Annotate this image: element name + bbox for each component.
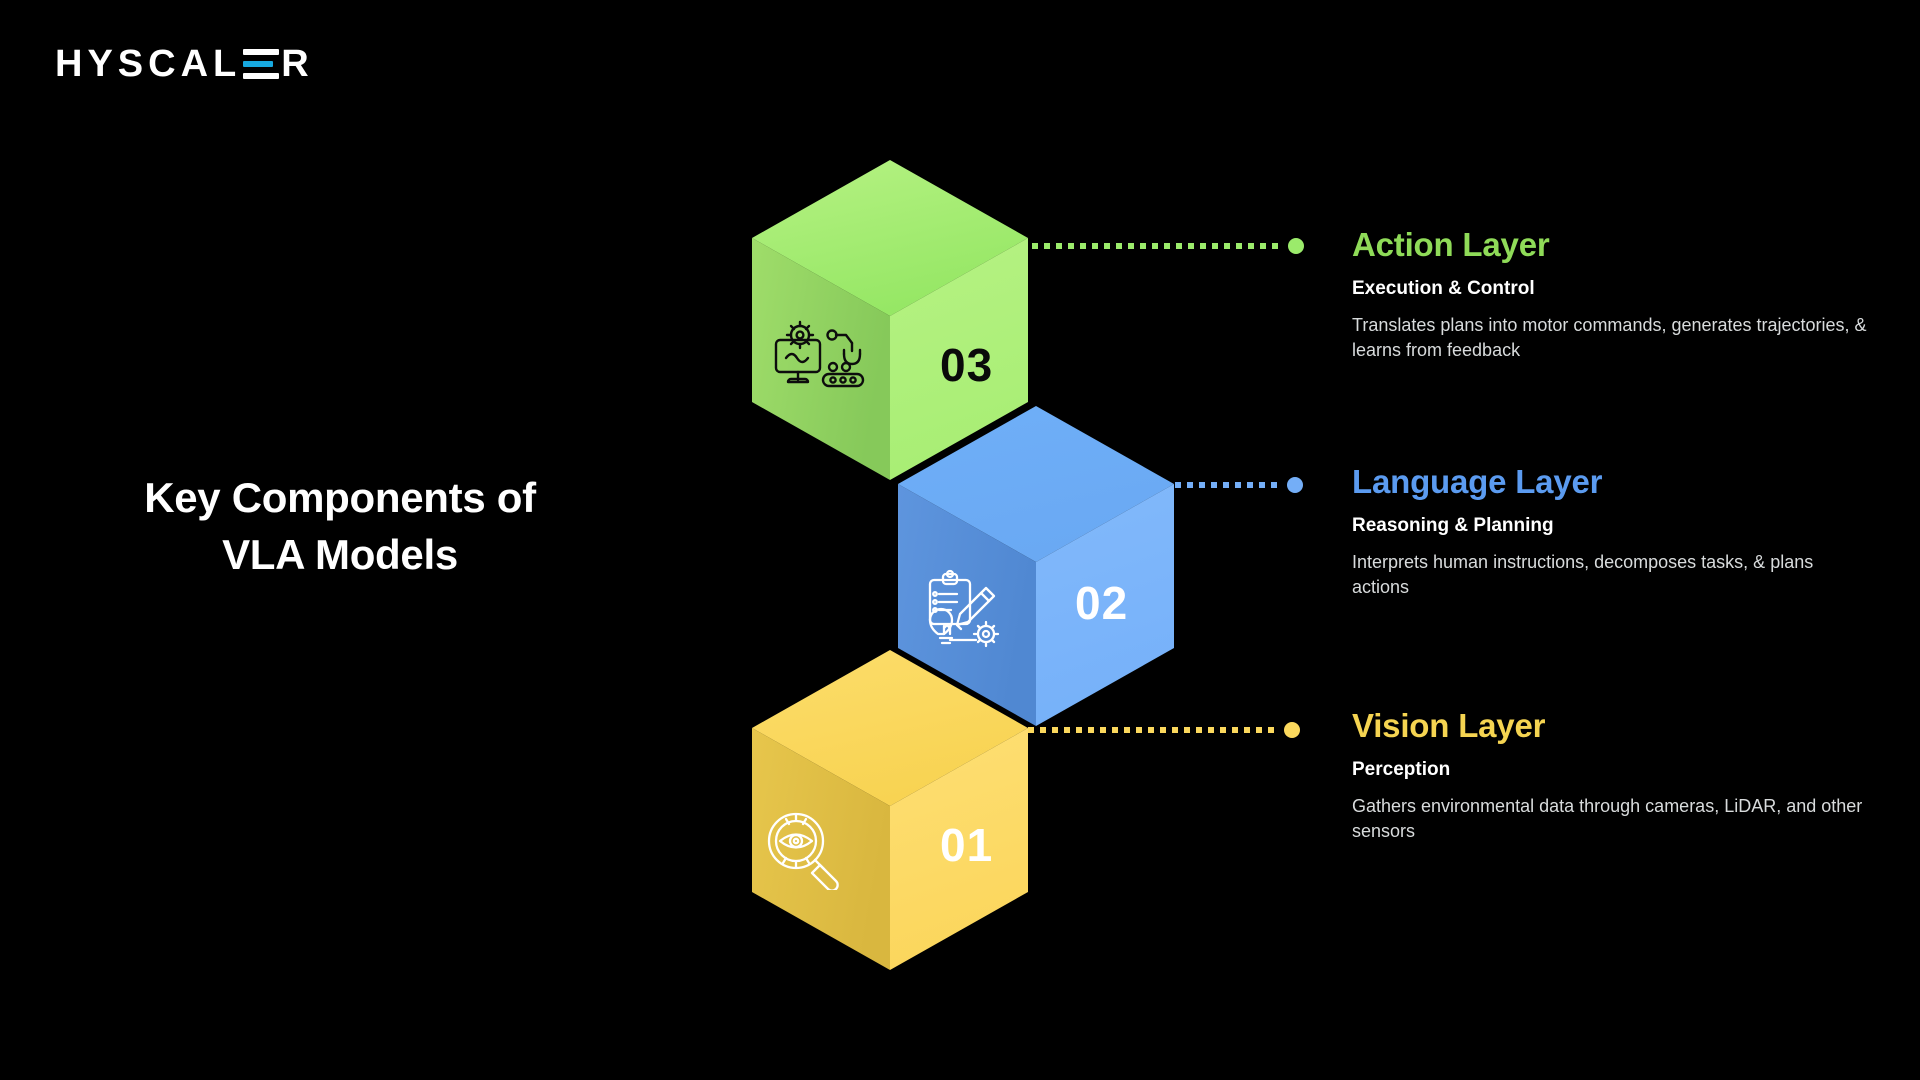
layer-subheading-action: Execution & Control [1352, 278, 1872, 301]
connector-endpoint-02 [1287, 477, 1303, 493]
layer-description-vision: Gathers environmental data through camer… [1352, 794, 1872, 845]
layer-info-action: Action Layer Execution & Control Transla… [1352, 226, 1872, 364]
page-title-line-1: Key Components of [60, 470, 620, 527]
brand-logo: HYSCAL R [55, 42, 314, 86]
cube-02-language [898, 406, 1174, 726]
page-title-line-2: VLA Models [60, 527, 620, 584]
layer-info-language: Language Layer Reasoning & Planning Inte… [1352, 463, 1872, 601]
logo-text-before: HYSCAL [55, 45, 241, 83]
slide-canvas: HYSCAL R Key Components of VLA Models [0, 0, 1920, 1080]
cube-number-02: 02 [1075, 576, 1128, 630]
connector-line-01 [1028, 727, 1302, 733]
layer-info-vision: Vision Layer Perception Gathers environm… [1352, 707, 1872, 845]
connector-endpoint-03 [1288, 238, 1304, 254]
automation-robot-arm-icon [770, 318, 866, 399]
page-title: Key Components of VLA Models [60, 470, 620, 583]
connector-endpoint-01 [1284, 722, 1300, 738]
layer-description-language: Interprets human instructions, decompose… [1352, 550, 1872, 601]
logo-text-after: R [281, 45, 313, 83]
eye-magnifier-icon [762, 808, 846, 895]
cube-number-03: 03 [940, 338, 993, 392]
layer-heading-language: Language Layer [1352, 463, 1872, 501]
layer-subheading-vision: Perception [1352, 759, 1872, 782]
layer-heading-vision: Vision Layer [1352, 707, 1872, 745]
layer-heading-action: Action Layer [1352, 226, 1872, 264]
connector-line-03 [1032, 243, 1302, 249]
layer-description-action: Translates plans into motor commands, ge… [1352, 313, 1872, 364]
cube-number-01: 01 [940, 818, 993, 872]
stylized-e-icon [243, 47, 279, 81]
clipboard-pencil-idea-icon [918, 568, 1002, 655]
connector-line-02 [1175, 482, 1303, 488]
layer-subheading-language: Reasoning & Planning [1352, 515, 1872, 538]
